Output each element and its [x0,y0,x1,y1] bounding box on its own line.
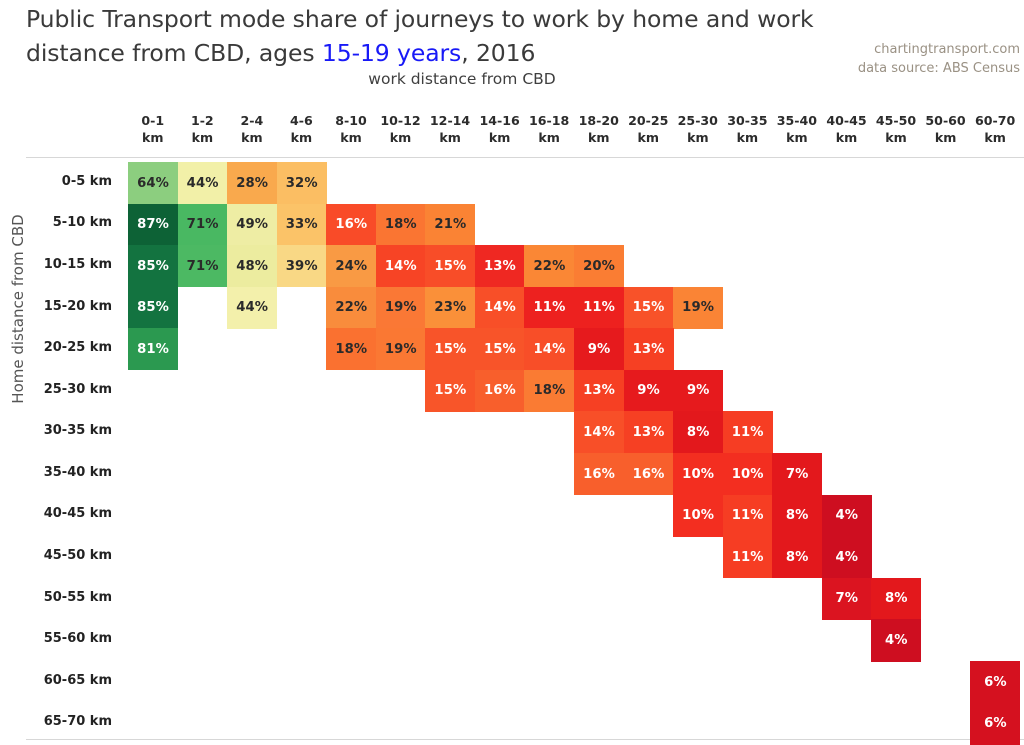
row-header: 55-60 km [0,631,112,646]
row-header: 65-70 km [0,714,112,729]
heatmap-cell[interactable]: 18% [524,370,574,412]
heatmap-cell-value: 19% [385,342,417,357]
heatmap-cell[interactable]: 85% [128,287,178,329]
heatmap-cell-value: 15% [434,342,466,357]
column-header-range: 35-40 [777,113,817,128]
heatmap-cell[interactable]: 6% [970,703,1020,745]
x-axis-title: work distance from CBD [0,70,1024,88]
heatmap-cell[interactable]: 11% [574,287,624,329]
column-header-unit: km [524,129,574,146]
column-header: 45-50km [871,112,921,146]
column-header: 20-25km [624,112,674,146]
heatmap-cell-value: 13% [484,259,516,274]
heatmap-cell[interactable]: 15% [425,328,475,370]
column-header-unit: km [822,129,872,146]
row-header: 35-40 km [0,465,112,480]
column-header-unit: km [921,129,971,146]
column-header-unit: km [624,129,674,146]
column-header-range: 1-2 [191,113,214,128]
heatmap-cell[interactable]: 81% [128,328,178,370]
heatmap-cell-value: 20% [583,259,615,274]
heatmap-cell-value: 19% [682,300,714,315]
heatmap-cell[interactable]: 13% [574,370,624,412]
heatmap-cell-value: 13% [633,342,665,357]
heatmap-cell-value: 9% [637,383,660,398]
column-header-range: 16-18 [529,113,569,128]
column-header-unit: km [277,129,327,146]
heatmap-cell-value: 49% [236,217,268,232]
row-header: 30-35 km [0,423,112,438]
column-header: 18-20km [574,112,624,146]
heatmap-cell-value: 14% [583,425,615,440]
heatmap-cell[interactable]: 9% [673,370,723,412]
column-header-unit: km [475,129,525,146]
heatmap-cell-value: 11% [732,550,764,565]
column-header: 10-12km [376,112,426,146]
row-header: 25-30 km [0,382,112,397]
column-header-range: 4-6 [290,113,313,128]
heatmap-cell[interactable]: 13% [624,328,674,370]
heatmap-cell[interactable]: 15% [475,328,525,370]
heatmap-cell-value: 18% [335,342,367,357]
heatmap-cell-value: 11% [732,425,764,440]
column-header-range: 10-12 [380,113,420,128]
heatmap-cell[interactable]: 44% [178,162,228,204]
heatmap-cell[interactable]: 21% [425,204,475,246]
heatmap-cell[interactable]: 13% [475,245,525,287]
heatmap-cell[interactable]: 4% [871,619,921,661]
heatmap-cell-value: 9% [687,383,710,398]
row-header: 50-55 km [0,590,112,605]
heatmap-cell-value: 13% [583,383,615,398]
heatmap-cell[interactable]: 23% [425,287,475,329]
heatmap-cell-value: 11% [732,508,764,523]
heatmap-cell[interactable]: 8% [772,536,822,578]
heatmap-cell[interactable]: 22% [326,287,376,329]
column-header-range: 12-14 [430,113,470,128]
column-header: 4-6km [277,112,327,146]
column-header: 50-60km [921,112,971,146]
heatmap-cell-value: 16% [583,467,615,482]
column-header-unit: km [574,129,624,146]
title-age-highlight: 15-19 years [322,39,461,67]
row-header: 20-25 km [0,340,112,355]
heatmap-cell-value: 19% [385,300,417,315]
chart-root: Public Transport mode share of journeys … [0,0,1024,745]
heatmap-cell[interactable]: 7% [822,578,872,620]
heatmap-cell[interactable]: 49% [227,204,277,246]
heatmap-cell[interactable]: 16% [574,453,624,495]
column-header: 40-45km [822,112,872,146]
heatmap-cell[interactable]: 11% [723,536,773,578]
heatmap-cell[interactable]: 14% [475,287,525,329]
heatmap-cell-value: 6% [984,675,1007,690]
heatmap-cell-value: 4% [885,633,908,648]
heatmap-cell-value: 15% [434,259,466,274]
column-header: 14-16km [475,112,525,146]
heatmap-cell-value: 6% [984,716,1007,731]
heatmap-cell[interactable]: 24% [326,245,376,287]
heatmap-cell[interactable]: 19% [376,328,426,370]
heatmap-cell-value: 71% [187,259,219,274]
heatmap-cell-value: 16% [335,217,367,232]
heatmap-cell-value: 44% [187,176,219,191]
heatmap-cell[interactable]: 14% [524,328,574,370]
column-header-range: 0-1 [141,113,164,128]
heatmap-cell[interactable]: 20% [574,245,624,287]
column-header-range: 2-4 [240,113,263,128]
heatmap-cell[interactable]: 8% [673,411,723,453]
heatmap-cell[interactable]: 14% [574,411,624,453]
heatmap-cell-value: 14% [484,300,516,315]
heatmap-cell[interactable]: 18% [376,204,426,246]
heatmap-cell[interactable]: 7% [772,453,822,495]
column-header-range: 8-10 [335,113,367,128]
heatmap-cell-value: 28% [236,176,268,191]
heatmap-cell-value: 22% [534,259,566,274]
plot-top-rule [26,157,1024,158]
heatmap-cell[interactable]: 11% [723,495,773,537]
column-header-unit: km [376,129,426,146]
row-header: 45-50 km [0,548,112,563]
heatmap-cell-value: 85% [137,259,169,274]
heatmap-cell-value: 15% [434,383,466,398]
heatmap-cell-value: 15% [633,300,665,315]
column-header-unit: km [128,129,178,146]
heatmap-cell[interactable]: 9% [574,328,624,370]
column-header: 16-18km [524,112,574,146]
heatmap-cell[interactable]: 14% [376,245,426,287]
column-header-unit: km [871,129,921,146]
heatmap-cell-value: 11% [583,300,615,315]
heatmap-cell-value: 13% [633,425,665,440]
heatmap-cell[interactable]: 15% [425,245,475,287]
heatmap-cell[interactable]: 28% [227,162,277,204]
heatmap-cell-value: 64% [137,176,169,191]
column-header-range: 18-20 [579,113,619,128]
heatmap-cell-value: 44% [236,300,268,315]
heatmap-cell[interactable]: 44% [227,287,277,329]
heatmap-cell[interactable]: 13% [624,411,674,453]
column-header-unit: km [772,129,822,146]
heatmap-cell-value: 22% [335,300,367,315]
heatmap-cell[interactable]: 39% [277,245,327,287]
heatmap-cell-value: 24% [335,259,367,274]
heatmap-cell-value: 87% [137,217,169,232]
heatmap-cell-value: 32% [286,176,318,191]
heatmap-cell[interactable]: 16% [624,453,674,495]
column-header-range: 40-45 [826,113,866,128]
heatmap-cell-value: 8% [786,550,809,565]
column-header: 12-14km [425,112,475,146]
heatmap-cell[interactable]: 33% [277,204,327,246]
heatmap-cell[interactable]: 19% [376,287,426,329]
column-header: 2-4km [227,112,277,146]
column-header-range: 60-70 [975,113,1015,128]
column-header-range: 50-60 [925,113,965,128]
heatmap-cell-value: 8% [687,425,710,440]
heatmap-cell-value: 4% [835,508,858,523]
column-header: 60-70km [970,112,1020,146]
heatmap-cell-value: 7% [835,591,858,606]
row-header: 15-20 km [0,299,112,314]
heatmap-cell[interactable]: 8% [871,578,921,620]
heatmap-cell[interactable]: 8% [772,495,822,537]
heatmap-cell-value: 11% [534,300,566,315]
column-header-unit: km [970,129,1020,146]
heatmap-cell-value: 33% [286,217,318,232]
column-header: 30-35km [723,112,773,146]
heatmap-cell-value: 39% [286,259,318,274]
column-header-range: 14-16 [479,113,519,128]
column-header: 8-10km [326,112,376,146]
heatmap-cell-value: 16% [484,383,516,398]
attribution-site: chartingtransport.com [858,40,1020,59]
heatmap-cell[interactable]: 87% [128,204,178,246]
heatmap-cell[interactable]: 15% [425,370,475,412]
heatmap-cell-value: 15% [484,342,516,357]
heatmap-cell[interactable]: 48% [227,245,277,287]
page-title: Public Transport mode share of journeys … [26,2,816,70]
heatmap-cell-value: 85% [137,300,169,315]
row-header: 0-5 km [0,174,112,189]
heatmap-cell[interactable]: 85% [128,245,178,287]
row-header: 10-15 km [0,257,112,272]
heatmap-cell[interactable]: 22% [524,245,574,287]
heatmap-cell[interactable]: 11% [723,411,773,453]
heatmap-cell-value: 14% [385,259,417,274]
heatmap-cell-value: 10% [682,467,714,482]
heatmap-cell-value: 18% [534,383,566,398]
title-part2: , 2016 [461,39,535,67]
heatmap-cell[interactable]: 64% [128,162,178,204]
row-header: 60-65 km [0,673,112,688]
heatmap-cell-value: 14% [534,342,566,357]
heatmap-cell-value: 8% [786,508,809,523]
heatmap-cell[interactable]: 4% [822,495,872,537]
heatmap-cell-value: 81% [137,342,169,357]
heatmap-cell[interactable]: 32% [277,162,327,204]
column-header: 0-1km [128,112,178,146]
heatmap-cell-value: 71% [187,217,219,232]
column-header-unit: km [425,129,475,146]
heatmap-cell[interactable]: 16% [475,370,525,412]
heatmap-cell[interactable]: 18% [326,328,376,370]
heatmap-cell[interactable]: 10% [723,453,773,495]
heatmap-cell-value: 18% [385,217,417,232]
heatmap-cell-value: 21% [434,217,466,232]
heatmap-cell[interactable]: 11% [524,287,574,329]
heatmap-cell-value: 23% [434,300,466,315]
heatmap-cell[interactable]: 16% [326,204,376,246]
column-header-unit: km [227,129,277,146]
heatmap-cell[interactable]: 15% [624,287,674,329]
heatmap-cell[interactable]: 10% [673,495,723,537]
heatmap-cell-value: 48% [236,259,268,274]
heatmap-cell-value: 7% [786,467,809,482]
plot-bottom-rule [26,739,1024,740]
column-header-range: 45-50 [876,113,916,128]
column-header-unit: km [673,129,723,146]
column-header-range: 25-30 [678,113,718,128]
heatmap-cell-value: 16% [633,467,665,482]
heatmap-cell[interactable]: 19% [673,287,723,329]
heatmap-cell[interactable]: 4% [822,536,872,578]
heatmap-cell[interactable]: 10% [673,453,723,495]
heatmap-cell-value: 10% [682,508,714,523]
heatmap-cell-value: 10% [732,467,764,482]
heatmap-cell[interactable]: 71% [178,204,228,246]
column-header: 35-40km [772,112,822,146]
row-header: 40-45 km [0,506,112,521]
column-header-range: 30-35 [727,113,767,128]
column-header-unit: km [178,129,228,146]
heatmap-cell-value: 8% [885,591,908,606]
column-header: 25-30km [673,112,723,146]
heatmap-cell[interactable]: 6% [970,661,1020,703]
heatmap-cell-value: 4% [835,550,858,565]
heatmap-cell[interactable]: 9% [624,370,674,412]
heatmap-cell-value: 9% [588,342,611,357]
column-header-unit: km [723,129,773,146]
column-header: 1-2km [178,112,228,146]
column-header-unit: km [326,129,376,146]
row-header: 5-10 km [0,215,112,230]
column-header-range: 20-25 [628,113,668,128]
heatmap-cell[interactable]: 71% [178,245,228,287]
